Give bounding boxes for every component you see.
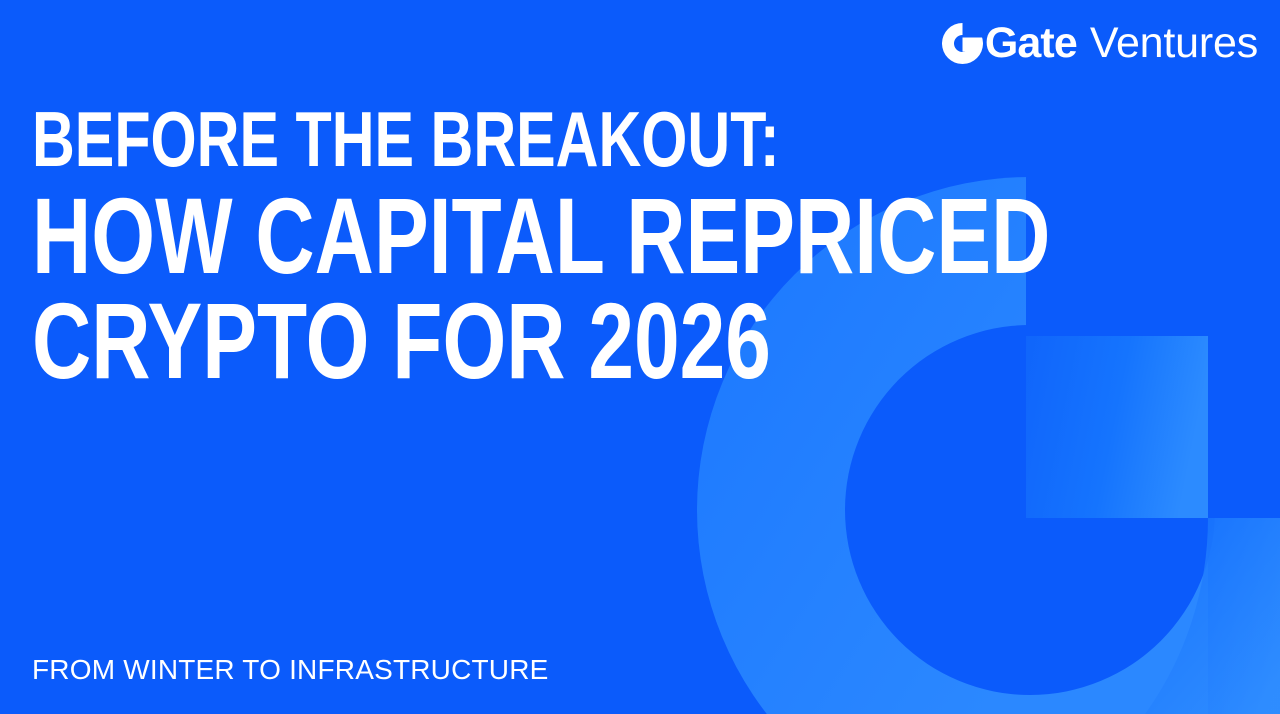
g-lower-right-wedge	[1145, 518, 1280, 714]
headline-line-2: HOW CAPITAL REPRICED	[32, 186, 1050, 285]
page-title: BEFORE THE BREAKOUT: HOW CAPITAL REPRICE…	[32, 104, 1280, 390]
headline-line-1: BEFORE THE BREAKOUT:	[32, 104, 1050, 176]
gate-logo-mark	[942, 23, 983, 64]
headline-line-3: CRYPTO FOR 2026	[32, 291, 1050, 390]
cover-slide: Gate Ventures BEFORE THE BREAKOUT: HOW C…	[0, 0, 1280, 714]
brand-name-secondary: Ventures	[1090, 22, 1258, 65]
brand-wordmark: Gate Ventures	[985, 22, 1258, 65]
brand-name-primary: Gate	[985, 22, 1077, 65]
brand-logo-lockup[interactable]: Gate Ventures	[942, 20, 1258, 66]
subtitle-kicker: FROM WINTER TO INFRASTRUCTURE	[32, 654, 549, 686]
